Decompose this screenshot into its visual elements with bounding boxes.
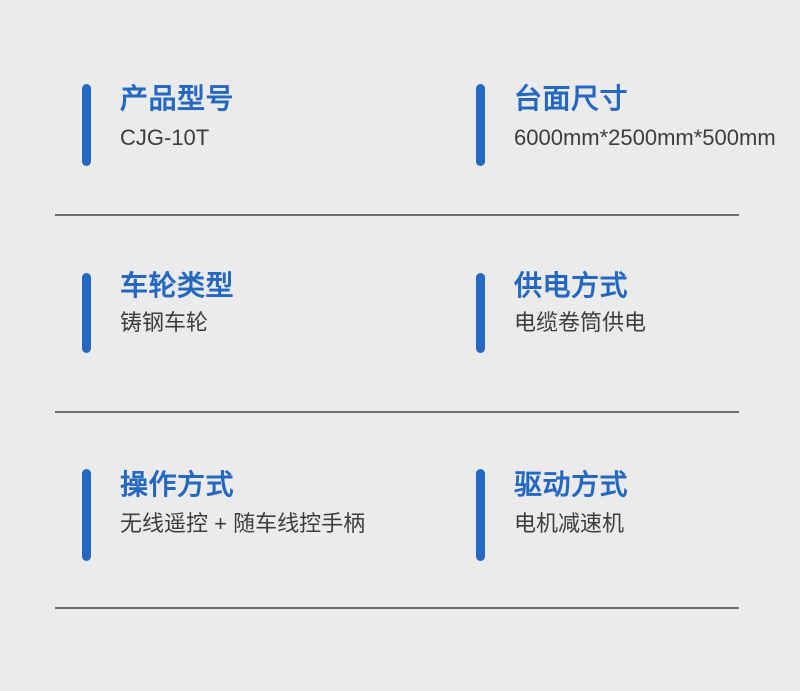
spec-item-wheel-type: 车轮类型 铸钢车轮 xyxy=(0,215,398,412)
spec-item-text: 操作方式 无线遥控 + 随车线控手柄 xyxy=(120,470,365,536)
spec-item-operation-mode: 操作方式 无线遥控 + 随车线控手柄 xyxy=(0,412,398,608)
spec-item-text: 台面尺寸 6000mm*2500mm*500mm xyxy=(514,84,776,150)
spec-item-title: 供电方式 xyxy=(514,271,646,301)
spec-item-power-supply: 供电方式 电缆卷筒供电 xyxy=(398,215,800,412)
spec-item-title: 车轮类型 xyxy=(120,271,234,301)
spec-item-text: 车轮类型 铸钢车轮 xyxy=(120,271,234,335)
spec-item-value: 6000mm*2500mm*500mm xyxy=(514,126,776,150)
spec-item-drive-mode: 驱动方式 电机减速机 xyxy=(398,412,800,608)
spec-row: 产品型号 CJG-10T 台面尺寸 6000mm*2500mm*500mm xyxy=(0,0,800,215)
accent-bar-icon xyxy=(82,84,91,166)
spec-item-value: 铸钢车轮 xyxy=(120,311,234,335)
accent-bar-icon xyxy=(476,469,485,561)
spec-item-title: 操作方式 xyxy=(120,470,365,500)
spec-item-product-model: 产品型号 CJG-10T xyxy=(0,0,398,215)
accent-bar-icon xyxy=(82,469,91,561)
spec-item-value: CJG-10T xyxy=(120,126,234,150)
spec-row: 操作方式 无线遥控 + 随车线控手柄 驱动方式 电机减速机 xyxy=(0,412,800,608)
spec-item-value: 电机减速机 xyxy=(514,512,628,536)
product-specification-sheet: 产品型号 CJG-10T 台面尺寸 6000mm*2500mm*500mm 车轮… xyxy=(0,0,800,691)
spec-item-value: 电缆卷筒供电 xyxy=(514,311,646,335)
accent-bar-icon xyxy=(476,84,485,166)
accent-bar-icon xyxy=(476,273,485,353)
spec-row: 车轮类型 铸钢车轮 供电方式 电缆卷筒供电 xyxy=(0,215,800,412)
divider xyxy=(55,607,739,609)
spec-item-text: 驱动方式 电机减速机 xyxy=(514,470,628,536)
spec-item-value: 无线遥控 + 随车线控手柄 xyxy=(120,512,365,536)
spec-item-title: 产品型号 xyxy=(120,84,234,114)
spec-item-text: 产品型号 CJG-10T xyxy=(120,84,234,150)
spec-item-title: 台面尺寸 xyxy=(514,84,776,114)
spec-item-title: 驱动方式 xyxy=(514,470,628,500)
spec-item-text: 供电方式 电缆卷筒供电 xyxy=(514,271,646,335)
accent-bar-icon xyxy=(82,273,91,353)
spec-item-table-size: 台面尺寸 6000mm*2500mm*500mm xyxy=(398,0,800,215)
